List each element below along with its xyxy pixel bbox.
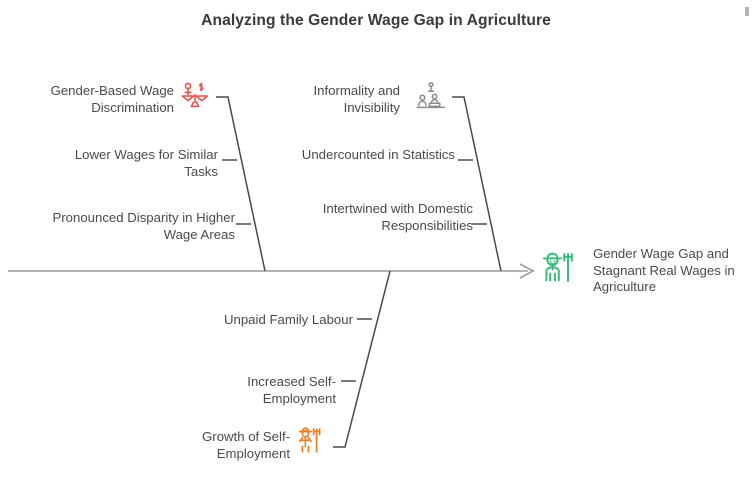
fishbone-diagram: Analyzing the Gender Wage Gap in Agricul… bbox=[0, 0, 752, 478]
farmer-with-pitchfork-icon bbox=[295, 424, 327, 456]
effect-label: Gender Wage Gap and Stagnant Real Wages … bbox=[593, 246, 745, 296]
subcause-label-unpaid-family-labour: Unpaid Family Labour bbox=[190, 311, 353, 328]
scrollbar-fragment bbox=[745, 7, 749, 16]
cause-label-gender-based-wage-discrimination: Gender-Based Wage Discrimination bbox=[14, 82, 174, 116]
cause-1-branch bbox=[216, 97, 265, 271]
cause-3-branch bbox=[333, 271, 390, 447]
cause-label-growth-of-self-employment: Growth of Self-Employment bbox=[160, 428, 290, 462]
subcause-label-increased-self-employment: Increased Self-Employment bbox=[198, 373, 336, 407]
wage-scale-balance-icon bbox=[179, 80, 211, 112]
farmer-with-pitchfork-icon bbox=[540, 247, 580, 287]
subcause-label-pronounced-disparity-in-higher-wage-areas: Pronounced Disparity in Higher Wage Area… bbox=[50, 209, 235, 243]
uncounted-people-icon bbox=[415, 80, 447, 112]
subcause-label-undercounted-in-statistics: Undercounted in Statistics bbox=[300, 146, 455, 163]
cause-label-informality-and-invisibility: Informality and Invisibility bbox=[288, 82, 400, 116]
cause-2-branch bbox=[452, 97, 501, 271]
subcause-label-lower-wages-for-similar-tasks: Lower Wages for Similar Tasks bbox=[60, 146, 218, 180]
subcause-label-intertwined-with-domestic-responsibilities: Intertwined with Domestic Responsibiliti… bbox=[298, 200, 473, 234]
